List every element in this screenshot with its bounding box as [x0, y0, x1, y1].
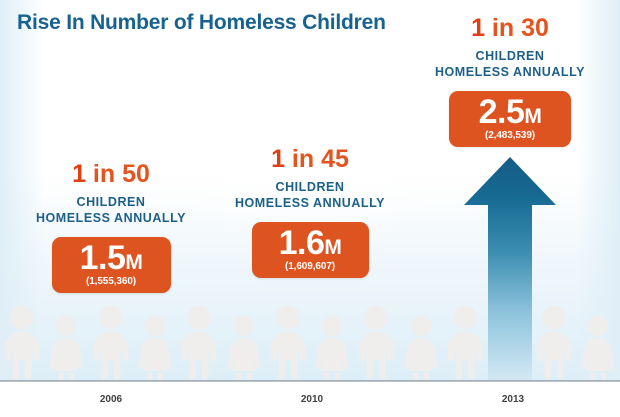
value-big-2006: 1.5M [52, 242, 171, 275]
annotation-line-2: HOMELESS ANNUALLY [423, 64, 597, 80]
person-silhouette-child [577, 315, 619, 381]
ratio-rest: in 50 [86, 160, 150, 188]
stat-group-2013: 1 in 30 CHILDREN HOMELESS ANNUALLY 2.5M … [423, 16, 597, 147]
value-number: 2.5 [479, 93, 525, 131]
ratio-label-2010: 1 in 45 [223, 147, 397, 172]
annotation-line-1: CHILDREN [423, 48, 597, 64]
stat-group-2010: 1 in 45 CHILDREN HOMELESS ANNUALLY 1.6M … [223, 147, 397, 278]
person-silhouette-adult [264, 305, 312, 381]
value-badge-2006: 1.5M (1,555,360) [52, 237, 171, 293]
ratio-lead: 1 [471, 14, 485, 42]
infographic-canvas: 1 in 50 CHILDREN HOMELESS ANNUALLY 1.5M … [0, 0, 620, 417]
person-silhouette-child [45, 315, 87, 381]
value-suffix: M [324, 236, 341, 259]
annotation-2006: CHILDREN HOMELESS ANNUALLY [24, 194, 198, 226]
value-exact-2006: (1,555,360) [52, 276, 171, 287]
ratio-rest: in 30 [485, 14, 549, 42]
baseline-divider [0, 380, 620, 382]
value-number: 1.6 [279, 224, 325, 262]
annotation-2013: CHILDREN HOMELESS ANNUALLY [423, 48, 597, 80]
annotation-line-2: HOMELESS ANNUALLY [24, 210, 198, 226]
value-suffix: M [524, 105, 541, 128]
ratio-lead: 1 [72, 160, 86, 188]
value-exact-2010: (1,609,607) [252, 261, 369, 272]
value-number: 1.5 [80, 239, 126, 277]
value-exact-2013: (2,483,539) [449, 130, 571, 141]
person-silhouette-child [134, 315, 176, 381]
annotation-line-1: CHILDREN [223, 179, 397, 195]
page-title: Rise In Number of Homeless Children [17, 11, 386, 35]
ratio-lead: 1 [271, 145, 285, 173]
person-silhouette-child [400, 315, 442, 381]
value-suffix: M [125, 251, 142, 274]
person-silhouette-child [223, 315, 265, 381]
value-big-2010: 1.6M [252, 227, 369, 260]
stat-group-2006: 1 in 50 CHILDREN HOMELESS ANNUALLY 1.5M … [24, 162, 198, 293]
value-badge-2013: 2.5M (2,483,539) [449, 91, 571, 147]
annotation-line-2: HOMELESS ANNUALLY [223, 195, 397, 211]
person-silhouette-adult [87, 305, 135, 381]
person-silhouette-child [311, 315, 353, 381]
value-big-2013: 2.5M [449, 96, 571, 129]
value-badge-2010: 1.6M (1,609,607) [252, 222, 369, 278]
person-silhouette-adult [175, 305, 223, 381]
annotation-line-1: CHILDREN [24, 194, 198, 210]
person-silhouette-adult [0, 305, 46, 381]
annotation-2010: CHILDREN HOMELESS ANNUALLY [223, 179, 397, 211]
ratio-rest: in 45 [285, 145, 349, 173]
upward-trend-arrow [462, 155, 558, 381]
year-label-2006: 2006 [81, 394, 141, 405]
year-label-2013: 2013 [483, 394, 543, 405]
ratio-label-2013: 1 in 30 [423, 16, 597, 41]
person-silhouette-adult [352, 305, 400, 381]
ratio-label-2006: 1 in 50 [24, 162, 198, 187]
year-label-2010: 2010 [282, 394, 342, 405]
